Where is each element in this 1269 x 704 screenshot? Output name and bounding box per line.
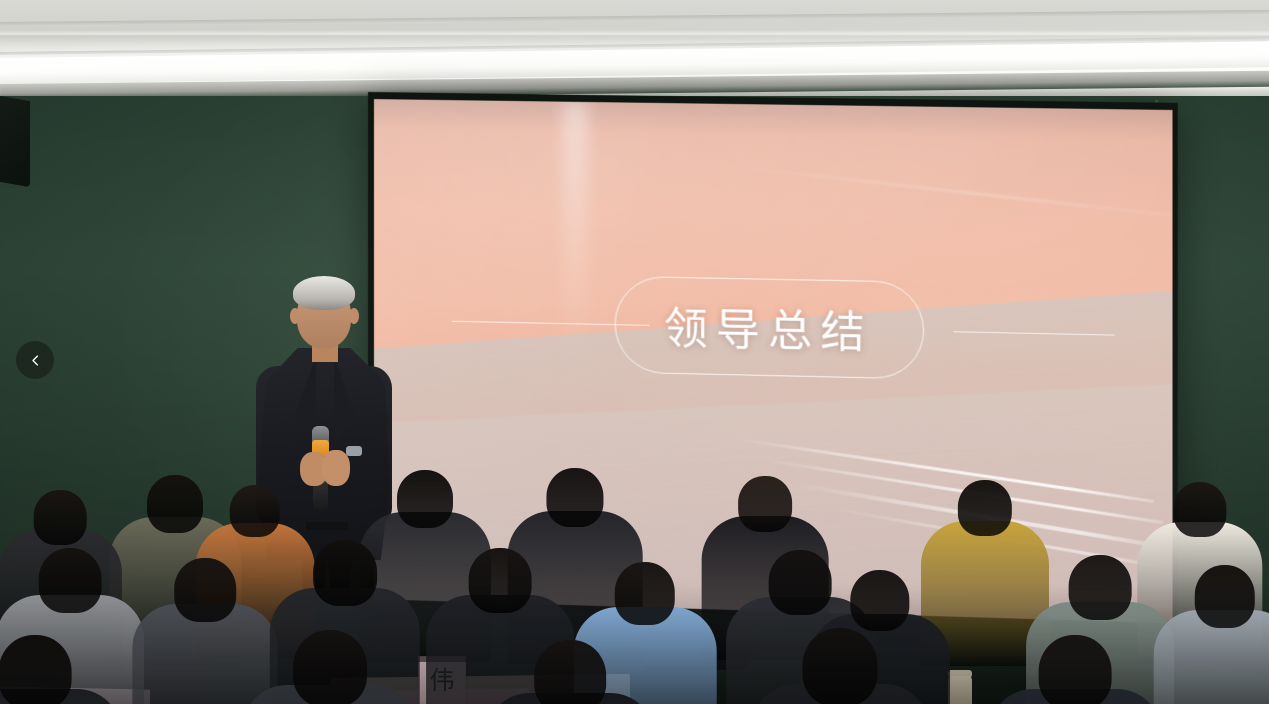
slide-title-block: 领导总结 bbox=[374, 264, 1173, 392]
audience-member-head bbox=[958, 480, 1012, 536]
audience-member-head bbox=[313, 540, 377, 606]
audience-member-head bbox=[39, 548, 102, 613]
presenter-hair bbox=[293, 276, 355, 310]
screenshot-root: 领导总结 伟 bbox=[0, 0, 1269, 704]
slide-title-rule-right bbox=[953, 331, 1115, 335]
audience-member bbox=[243, 630, 417, 704]
audience-member bbox=[0, 635, 121, 704]
audience-member-head bbox=[802, 628, 877, 704]
slide-headline: 领导总结 bbox=[664, 294, 873, 361]
audience-member-head bbox=[1069, 555, 1132, 620]
audience-member-head bbox=[1173, 482, 1226, 537]
audience bbox=[0, 430, 1269, 704]
audience-member-head bbox=[469, 548, 532, 613]
prev-slide-button[interactable] bbox=[16, 341, 54, 379]
audience-member-head bbox=[534, 640, 606, 704]
chevron-left-icon bbox=[28, 353, 43, 368]
audience-member-head bbox=[230, 485, 280, 537]
ceiling bbox=[0, 0, 1269, 100]
audience-member-head bbox=[1039, 635, 1112, 704]
audience-member-head bbox=[546, 468, 603, 527]
audience-member-head bbox=[34, 490, 87, 545]
audience-member-head bbox=[615, 562, 675, 625]
slide-title-pill: 领导总结 bbox=[614, 276, 924, 380]
audience-member bbox=[486, 640, 655, 704]
audience-member bbox=[989, 635, 1161, 704]
audience-member-head bbox=[738, 476, 792, 532]
audience-member-head bbox=[850, 570, 909, 631]
audience-member-head bbox=[397, 470, 453, 528]
audience-member-head bbox=[293, 630, 367, 704]
corner-speaker-box bbox=[0, 95, 30, 187]
audience-member-head bbox=[147, 475, 203, 533]
audience-member-head bbox=[174, 558, 236, 622]
ceiling-rail bbox=[0, 10, 1269, 26]
audience-member-head bbox=[1195, 565, 1255, 628]
audience-member bbox=[1154, 565, 1269, 704]
audience-member bbox=[752, 628, 929, 704]
audience-member-head bbox=[0, 635, 71, 704]
